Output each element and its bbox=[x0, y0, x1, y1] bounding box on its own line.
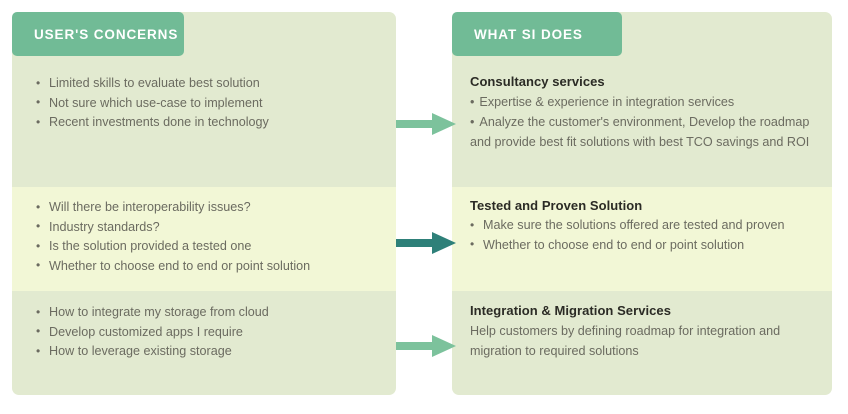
left-row-2-bullet-list: Will there be interoperability issues? I… bbox=[36, 198, 382, 276]
list-item: Industry standards? bbox=[36, 218, 382, 238]
right-column-header-tab: WHAT SI DOES bbox=[452, 12, 622, 56]
right-row-2-content: Tested and Proven Solution Make sure the… bbox=[452, 198, 832, 255]
left-column-header-label: USER'S CONCERNS bbox=[34, 27, 178, 42]
list-item-label: Analyze the customer's environment, Deve… bbox=[470, 115, 809, 149]
list-item: •Analyze the customer's environment, Dev… bbox=[470, 112, 816, 152]
right-row-1-heading: Consultancy services bbox=[470, 74, 816, 89]
list-item: Limited skills to evaluate best solution bbox=[36, 74, 382, 94]
arrow-row-2 bbox=[396, 230, 458, 256]
left-row-3-bullet-list: How to integrate my storage from cloud D… bbox=[36, 303, 382, 362]
list-item: Will there be interoperability issues? bbox=[36, 198, 382, 218]
arrow-row-3 bbox=[396, 333, 458, 359]
left-column-header-tab: USER'S CONCERNS bbox=[12, 12, 184, 56]
left-row-3-content: How to integrate my storage from cloud D… bbox=[12, 303, 396, 362]
list-item: Not sure which use-case to implement bbox=[36, 94, 382, 114]
list-item: Whether to choose end to end or point so… bbox=[470, 236, 816, 256]
right-row-3-paragraph: Help customers by defining roadmap for i… bbox=[470, 321, 816, 361]
list-item: Recent investments done in technology bbox=[36, 113, 382, 133]
left-row-1-bullet-list: Limited skills to evaluate best solution… bbox=[36, 74, 382, 133]
list-item: How to integrate my storage from cloud bbox=[36, 303, 382, 323]
arrow-row-1 bbox=[396, 111, 458, 137]
list-item: Develop customized apps I require bbox=[36, 323, 382, 343]
left-row-2-content: Will there be interoperability issues? I… bbox=[12, 198, 396, 276]
right-row-3-heading: Integration & Migration Services bbox=[470, 303, 816, 318]
list-item: How to leverage existing storage bbox=[36, 342, 382, 362]
right-row-2-bullet-list: Make sure the solutions offered are test… bbox=[470, 216, 816, 255]
bullet-dot-icon: • bbox=[470, 115, 474, 129]
left-row-1-content: Limited skills to evaluate best solution… bbox=[12, 74, 396, 133]
right-row-1-bullet-list: •Expertise & experience in integration s… bbox=[470, 92, 816, 152]
list-item: Whether to choose end to end or point so… bbox=[36, 257, 382, 277]
list-item: Is the solution provided a tested one bbox=[36, 237, 382, 257]
right-row-3-content: Integration & Migration Services Help cu… bbox=[452, 303, 832, 361]
right-row-2-heading: Tested and Proven Solution bbox=[470, 198, 816, 213]
right-row-1-content: Consultancy services •Expertise & experi… bbox=[452, 74, 832, 152]
bullet-dot-icon: • bbox=[470, 95, 474, 109]
list-item-label: Expertise & experience in integration se… bbox=[479, 95, 734, 109]
two-column-comparison-diagram: USER'S CONCERNS WHAT SI DOES Limited ski… bbox=[0, 0, 848, 414]
list-item: Make sure the solutions offered are test… bbox=[470, 216, 816, 236]
right-column-header-label: WHAT SI DOES bbox=[474, 27, 583, 42]
list-item: •Expertise & experience in integration s… bbox=[470, 92, 816, 112]
